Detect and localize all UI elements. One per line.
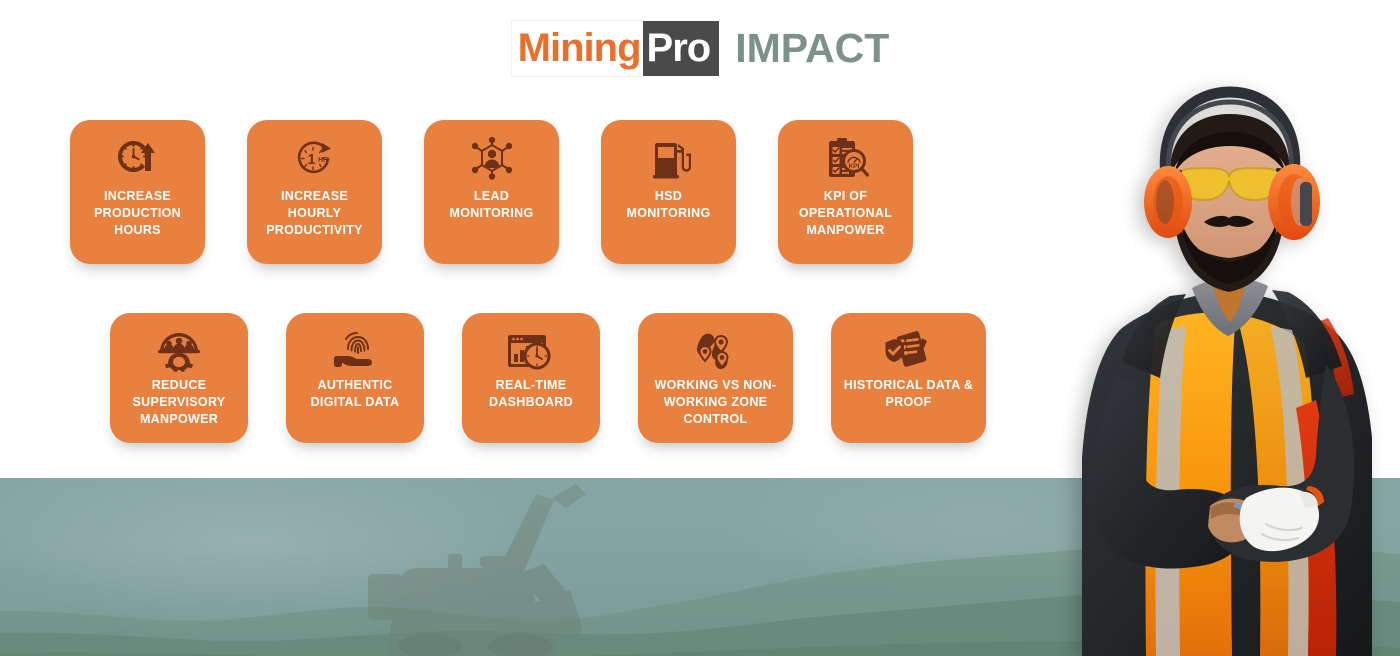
logo-lockup: MiningPro	[511, 20, 720, 77]
card-authentic-digital-data[interactable]: AUTHENTIC DIGITAL DATA	[286, 313, 424, 443]
worker-portrait	[1060, 78, 1400, 656]
card-label: REDUCE SUPERVISORY MANPOWER	[118, 377, 240, 428]
people-gear-icon	[154, 329, 204, 373]
svg-text:HR: HR	[317, 157, 327, 164]
network-person-icon	[468, 136, 516, 182]
card-label: LEAD MONITORING	[432, 188, 551, 222]
svg-text:KPI: KPI	[848, 163, 859, 170]
card-label: KPI OF OPERATIONAL MANPOWER	[786, 188, 905, 239]
card-hsd-monitoring[interactable]: HSD MONITORING	[601, 120, 736, 264]
logo-mining-text: Mining	[511, 20, 643, 77]
card-label: HISTORICAL DATA & PROOF	[839, 377, 978, 411]
card-increase-production-hours[interactable]: INCREASE PRODUCTION HOURS	[70, 120, 205, 264]
card-label: REAL-TIME DASHBOARD	[470, 377, 592, 411]
excavator-silhouette	[330, 478, 750, 656]
benefit-card-row-2: REDUCE SUPERVISORY MANPOWER	[110, 313, 986, 443]
logo-pro-text: Pro	[643, 21, 720, 76]
benefit-card-row-1: INCREASE PRODUCTION HOURS	[70, 120, 913, 264]
card-label: WORKING VS NON-WORKING ZONE CONTROL	[646, 377, 785, 428]
clipboard-kpi-magnifier-icon: KPI	[822, 136, 870, 182]
card-real-time-dashboard[interactable]: REAL-TIME DASHBOARD	[462, 313, 600, 443]
clock-arrow-icon	[114, 136, 162, 182]
brand-logo: MiningPro IMPACT	[0, 20, 1400, 77]
card-label: INCREASE PRODUCTION HOURS	[78, 188, 197, 239]
card-kpi-operational-manpower[interactable]: KPI KPI OF OPERATIONAL MANPOWER	[778, 120, 913, 264]
logo-impact-text: IMPACT	[735, 21, 889, 76]
card-working-vs-nonworking-zone-control[interactable]: WORKING VS NON-WORKING ZONE CONTROL	[638, 313, 793, 443]
card-lead-monitoring[interactable]: LEAD MONITORING	[424, 120, 559, 264]
svg-text:1: 1	[307, 151, 315, 168]
clock-one-hour-icon: 1 HR	[291, 136, 339, 182]
document-shield-check-icon	[884, 329, 934, 373]
card-reduce-supervisory-manpower[interactable]: REDUCE SUPERVISORY MANPOWER	[110, 313, 248, 443]
card-label: HSD MONITORING	[609, 188, 728, 222]
card-increase-hourly-productivity[interactable]: 1 HR INCREASE HOURLY PRODUCTIVITY	[247, 120, 382, 264]
dashboard-clock-icon	[506, 329, 556, 373]
card-historical-data-proof[interactable]: HISTORICAL DATA & PROOF	[831, 313, 986, 443]
fuel-pump-icon	[645, 136, 693, 182]
map-zone-pins-icon	[691, 329, 741, 373]
card-label: INCREASE HOURLY PRODUCTIVITY	[255, 188, 374, 239]
card-label: AUTHENTIC DIGITAL DATA	[294, 377, 416, 411]
fingerprint-hand-icon	[330, 329, 380, 373]
infographic-canvas: MiningPro IMPACT	[0, 0, 1400, 656]
